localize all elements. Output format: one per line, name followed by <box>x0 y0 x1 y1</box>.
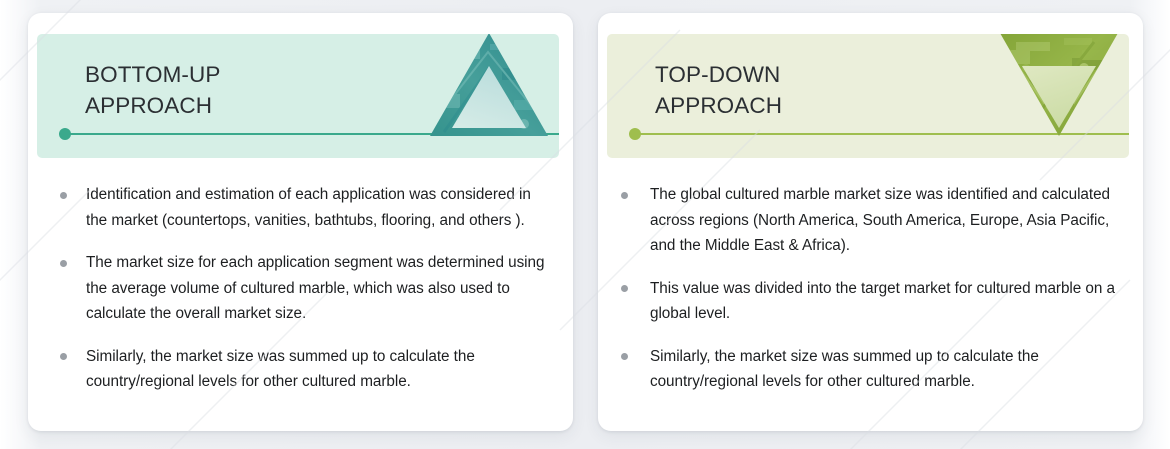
bullet-dot-icon <box>60 353 67 360</box>
bullet-dot-icon <box>60 260 67 267</box>
list-item-text: Similarly, the market size was summed up… <box>86 348 475 391</box>
panel-bottom-up: BOTTOM-UP APPROACH <box>28 13 573 431</box>
bullet-dot-icon <box>621 285 628 292</box>
bullet-list-bottom-up: Identification and estimation of each ap… <box>28 158 573 395</box>
bullet-dot-icon <box>621 353 628 360</box>
triangle-up-icon <box>428 34 550 141</box>
list-item-text: Identification and estimation of each ap… <box>86 186 531 229</box>
panel-header-bottom-up: BOTTOM-UP APPROACH <box>37 34 559 158</box>
list-item: This value was divided into the target m… <box>612 276 1131 327</box>
bullet-list-top-down: The global cultured marble market size w… <box>598 158 1143 395</box>
list-item-text: The global cultured marble market size w… <box>650 186 1110 254</box>
list-item-text: This value was divided into the target m… <box>650 280 1115 323</box>
page-title: TOP-DOWN APPROACH <box>655 59 782 121</box>
page-title: BOTTOM-UP APPROACH <box>85 59 220 121</box>
list-item: The market size for each application seg… <box>51 250 551 327</box>
list-item-text: The market size for each application seg… <box>86 254 544 322</box>
bullet-dot-icon <box>60 192 67 199</box>
panel-top-down: TOP-DOWN APPROACH <box>598 13 1143 431</box>
page-canvas: BOTTOM-UP APPROACH <box>0 0 1170 449</box>
list-item: The global cultured marble market size w… <box>612 182 1131 259</box>
triangle-down-icon <box>998 34 1120 141</box>
list-item: Similarly, the market size was summed up… <box>51 344 551 395</box>
panel-header-top-down: TOP-DOWN APPROACH <box>607 34 1129 158</box>
bullet-dot-icon <box>621 192 628 199</box>
list-item: Similarly, the market size was summed up… <box>612 344 1131 395</box>
list-item-text: Similarly, the market size was summed up… <box>650 348 1039 391</box>
list-item: Identification and estimation of each ap… <box>51 182 551 233</box>
